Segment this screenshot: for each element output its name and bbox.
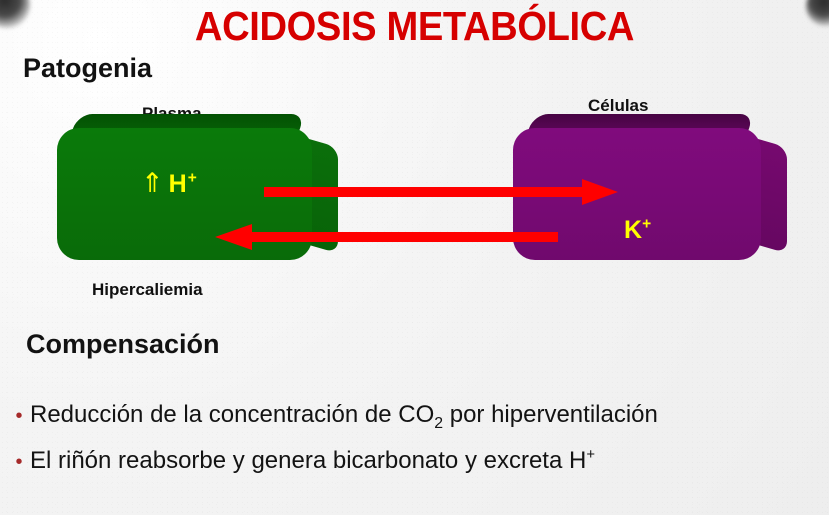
potassium-symbol: K bbox=[624, 216, 642, 244]
corner-artifact-left-icon bbox=[0, 0, 30, 28]
potassium-charge: + bbox=[642, 216, 651, 233]
arrow-celulas-to-plasma-icon bbox=[214, 222, 560, 252]
section-heading-pathogenesis: Patogenia bbox=[23, 53, 152, 84]
bullet-marker-icon: • bbox=[8, 405, 30, 428]
co2-subscript: 2 bbox=[434, 415, 443, 432]
increase-arrow-icon: ⇑ bbox=[141, 168, 165, 198]
list-item: • El riñón reabsorbe y genera bicarbonat… bbox=[8, 447, 595, 475]
corner-artifact-right-icon bbox=[806, 0, 829, 26]
bullet-marker-icon: • bbox=[8, 451, 30, 474]
bullet-text: El riñón reabsorbe y genera bicarbonato … bbox=[30, 447, 595, 475]
hydrogen-charge: + bbox=[188, 170, 198, 187]
label-hipercaliemia: Hipercaliemia bbox=[92, 280, 203, 300]
label-potassium-ion: K+ bbox=[624, 216, 651, 245]
slide-canvas: ACIDOSIS METABÓLICA Patogenia Plasma Cél… bbox=[0, 0, 829, 515]
arrow-plasma-to-celulas-icon bbox=[264, 178, 620, 206]
bullet-text: Reducción de la concentración de CO2 por… bbox=[30, 401, 658, 429]
list-item: • Reducción de la concentración de CO2 p… bbox=[8, 401, 658, 429]
section-heading-compensation: Compensación bbox=[26, 329, 220, 360]
slide-title: ACIDOSIS METABÓLICA bbox=[29, 3, 800, 50]
label-hydrogen-ion: ⇑H+ bbox=[141, 168, 198, 199]
label-celulas: Células bbox=[588, 96, 648, 116]
hydrogen-symbol: H bbox=[169, 170, 188, 198]
hydrogen-charge-superscript: + bbox=[586, 447, 595, 463]
